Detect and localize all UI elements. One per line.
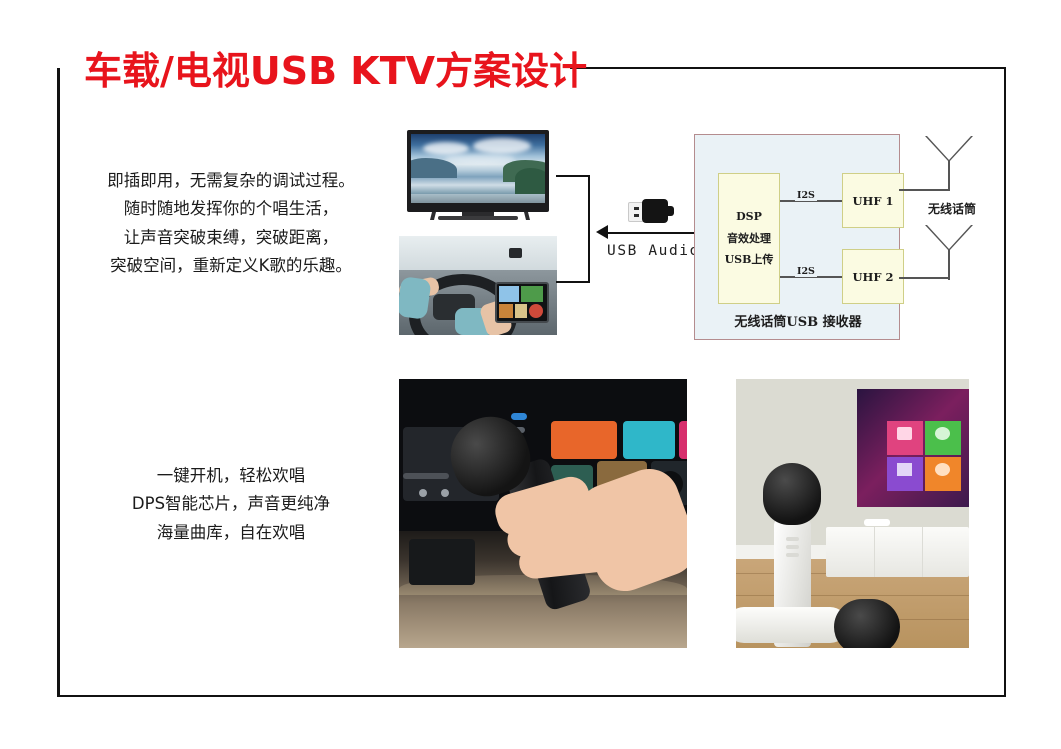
frame-border-right [1004,68,1007,697]
microphones-living-room-photo [736,379,969,648]
cabinet-item [864,519,890,526]
car-dashboard-photo [399,236,557,335]
dashcam [509,248,522,258]
receiver-block-diagram: DSP 音效处理 USB上传 UHF 1 UHF 2 I2S I2S 无线话筒U… [694,134,900,340]
infotainment-screen [495,282,549,323]
arrow-left-icon [596,225,608,239]
page-title: 车载/电视USB KTV方案设计 [84,40,587,95]
diagram-caption: 无线话筒USB 接收器 [695,311,901,330]
feature-line: 让声音突破束缚，突破距离， [76,224,386,252]
tv-bezel [407,130,549,212]
i2s-label-2: I2S [795,266,817,277]
wireless-mic-label: 无线话筒 [922,200,982,217]
flat-screen-tv-photo [399,126,557,231]
dsp-block: DSP 音效处理 USB上传 [718,173,780,304]
microphone-in-car-photo [399,379,687,648]
usb-audio-label: USB Audio [607,243,700,259]
uhf2-block: UHF 2 [842,249,904,304]
feature-line: 突破空间，重新定义K歌的乐趣。 [76,252,386,280]
feature-line: 即插即用，无需复杂的调试过程。 [76,167,386,195]
frame-border-top [570,67,1006,70]
feature-text-bottom: 一键开机，轻松欢唱 DPS智能芯片，声音更纯净 海量曲库，自在欢唱 [76,462,386,547]
antenna-icon [925,136,973,194]
feature-line: 随时随地发挥你的个唱生活， [76,195,386,223]
tv-stand-foot [438,216,518,220]
microphone-foam-head [763,463,821,525]
tv-cabinet [826,527,969,577]
i2s-label-1: I2S [795,190,817,201]
microphone-body-second [736,607,848,643]
dsp-line-2: 音效处理 [727,228,771,249]
feature-text-top: 即插即用，无需复杂的调试过程。 随时随地发挥你的个唱生活， 让声音突破束缚，突破… [76,167,386,281]
signal-line [600,232,698,234]
feature-line: 海量曲库，自在欢唱 [76,519,386,547]
uhf1-block: UHF 1 [842,173,904,228]
signal-bracket [556,175,592,283]
frame-border-bottom [57,695,1006,698]
antenna-icon [925,225,973,283]
microphone-foam-head-second [834,599,900,648]
dsp-line-1: DSP [736,206,762,227]
usb-plug-icon [628,199,672,223]
slide-canvas: 车载/电视USB KTV方案设计 即插即用，无需复杂的调试过程。 随时随地发挥你… [0,0,1061,749]
feature-line: 一键开机，轻松欢唱 [76,462,386,490]
tv-screen [411,134,545,203]
frame-border-left [57,68,60,697]
wall-mounted-tv [857,389,969,507]
dsp-line-3: USB上传 [725,249,774,270]
feature-line: DPS智能芯片，声音更纯净 [76,490,386,518]
